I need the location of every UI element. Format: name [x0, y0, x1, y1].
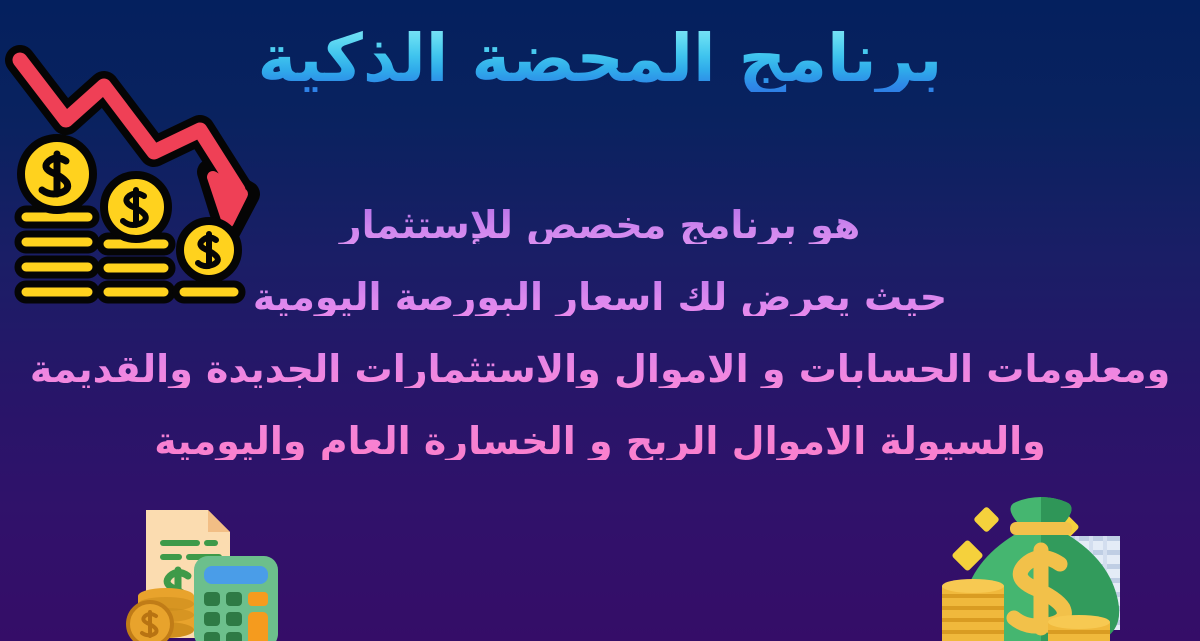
- poster-canvas: برنامج المحضة الذكية هو برنامج مخصص للإس…: [0, 0, 1200, 641]
- description-line-3: ومعلومات الحسابات و الاموال والاستثمارات…: [0, 350, 1200, 388]
- calculator-display: [204, 566, 268, 584]
- description-line-4: والسيولة الاموال الربح و الخسارة العام و…: [0, 422, 1200, 460]
- description-block: هو برنامج مخصص للإستثمار حيث يعرض لك اسع…: [0, 206, 1200, 460]
- calculator-icon: [194, 556, 278, 641]
- invoice-calculator-coins-illustration: [108, 498, 298, 641]
- description-line-1: هو برنامج مخصص للإستثمار: [0, 206, 1200, 244]
- coin-stack-tall-icon: [942, 579, 1004, 641]
- coin-stack-short-icon: [1048, 615, 1110, 641]
- money-bag-cash-coins-illustration: [936, 494, 1140, 641]
- coin-pile-icon: [128, 588, 194, 641]
- invoice-calculator-coins-icon: [108, 498, 298, 641]
- page-title: برنامج المحضة الذكية: [0, 26, 1200, 92]
- money-bag-cash-coins-icon: [936, 494, 1140, 641]
- money-bag-tie: [1010, 522, 1072, 535]
- description-line-2: حيث يعرض لك اسعار البورصة اليومية: [0, 278, 1200, 316]
